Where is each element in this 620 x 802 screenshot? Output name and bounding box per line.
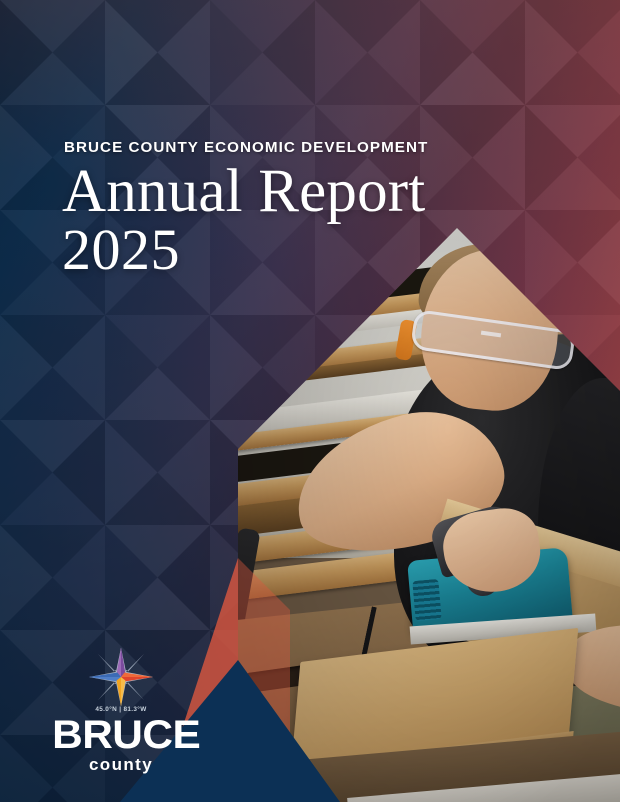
report-cover-page: BRUCE COUNTY ECONOMIC DEVELOPMENT Annual… (0, 0, 620, 802)
page-title-year: 2025 (62, 216, 180, 283)
page-eyebrow: BRUCE COUNTY ECONOMIC DEVELOPMENT (64, 139, 428, 156)
compass-rose-icon (76, 645, 166, 709)
logo-wordmark-county: county (56, 756, 186, 773)
logo-wordmark-bruce: BRUCE (52, 717, 190, 754)
logo-coordinates: 45.0°N | 81.3°W (56, 706, 186, 713)
bruce-county-logo: 45.0°N | 81.3°W BRUCE county (56, 645, 186, 773)
page-title: Annual Report (62, 160, 425, 223)
